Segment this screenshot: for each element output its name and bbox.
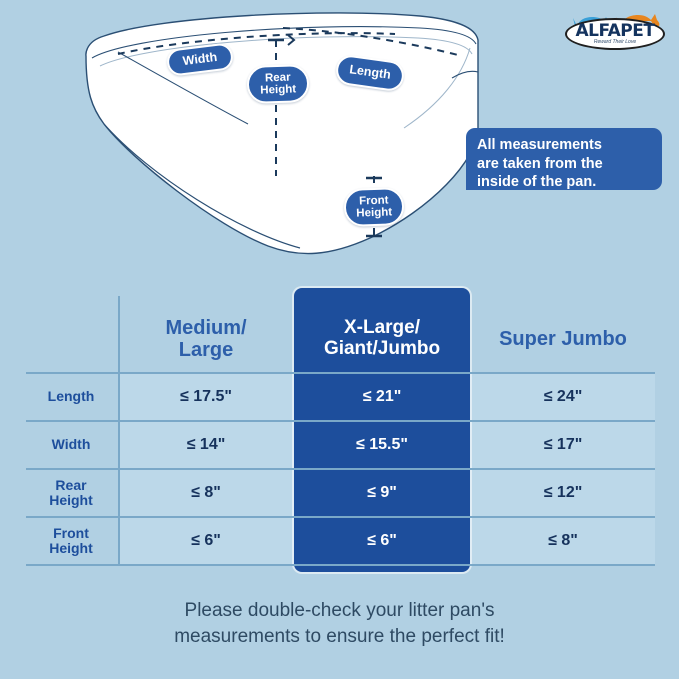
cell-width-medium-large: ≤ 14" [122,422,290,468]
cell-front-height-medium-large: ≤ 6" [122,518,290,564]
label-rear-height-line1: Rear [265,71,291,84]
row-label-rear-height-line1: Rear [55,478,86,493]
label-front-height-line2: Height [356,206,392,219]
cell-front-height-super-jumbo: ≤ 8" [472,518,654,564]
row-label-rear-height: Rear Height [26,470,116,516]
footer-line-2: measurements to ensure the perfect fit! [0,624,679,650]
cell-width-super-jumbo: ≤ 17" [472,422,654,468]
row-label-width-line1: Width [52,437,91,452]
cell-length-medium-large: ≤ 17.5" [122,374,290,420]
label-front-height: Front Height [343,187,404,227]
column-header-super-jumbo-line1: Super Jumbo [499,328,627,350]
cell-rear-height-x-large-giant-jumbo: ≤ 9" [296,470,468,516]
row-label-length: Length [26,374,116,420]
column-header-super-jumbo[interactable]: Super Jumbo [472,308,654,370]
callout-line-1: All measurements [477,136,651,155]
row-label-front-height-line2: Height [49,541,93,556]
cell-rear-height-super-jumbo: ≤ 12" [472,470,654,516]
column-header-x-large-giant-jumbo[interactable]: X-Large/ Giant/Jumbo [296,308,468,370]
callout-line-2: are taken from the [477,155,651,174]
grid-line-4 [26,564,655,566]
cell-length-super-jumbo: ≤ 24" [472,374,654,420]
column-header-medium-large[interactable]: Medium/ Large [122,308,290,370]
column-header-medium-large-line2: Large [179,339,233,361]
cell-rear-height-medium-large: ≤ 8" [122,470,290,516]
label-length-text: Length [348,63,391,82]
grid-line-label-divider [118,296,120,564]
row-label-length-line1: Length [48,389,95,404]
measurements-callout: All measurements are taken from the insi… [466,128,662,190]
label-rear-height-line2: Height [260,83,296,96]
cell-length-x-large-giant-jumbo: ≤ 21" [296,374,468,420]
callout-line-3: inside of the pan. [477,173,651,192]
infographic-page: ALFAPET Reward Their Love Width [0,0,679,679]
row-label-front-height: Front Height [26,518,116,564]
footer-line-1: Please double-check your litter pan's [0,598,679,624]
cell-front-height-x-large-giant-jumbo: ≤ 6" [296,518,468,564]
label-front-height-line1: Front [359,194,389,207]
row-label-front-height-line1: Front [53,526,89,541]
column-header-x-large-giant-jumbo-line1: X-Large/ [344,318,420,339]
column-header-x-large-giant-jumbo-line2: Giant/Jumbo [324,339,440,360]
row-label-rear-height-line2: Height [49,493,93,508]
cell-width-x-large-giant-jumbo: ≤ 15.5" [296,422,468,468]
row-label-width: Width [26,422,116,468]
size-chart-table: Medium/ Large X-Large/ Giant/Jumbo Super… [0,288,679,580]
label-rear-height: Rear Height [246,64,309,104]
label-width-text: Width [182,51,218,69]
column-header-medium-large-line1: Medium/ [165,317,246,339]
footer-note: Please double-check your litter pan's me… [0,598,679,649]
